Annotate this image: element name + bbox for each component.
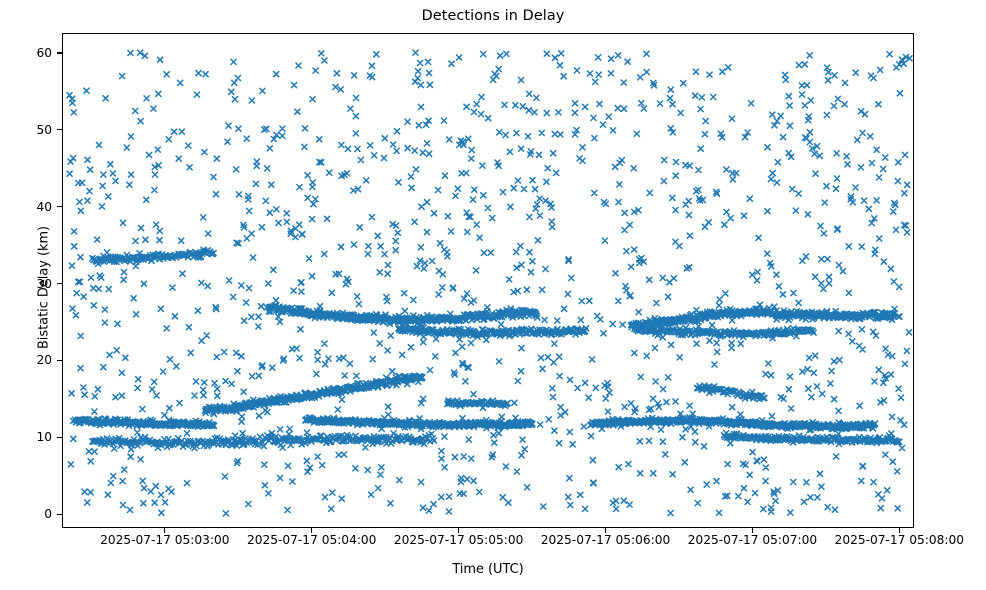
y-tick-mark: [57, 206, 62, 207]
y-tick-mark: [57, 129, 62, 130]
y-tick-label: 0: [0, 507, 52, 521]
x-tick-label: 2025-07-17 05:05:00: [394, 533, 523, 547]
y-tick-label: 50: [0, 123, 52, 137]
y-tick-mark: [57, 360, 62, 361]
plot-area: [62, 33, 914, 528]
y-tick-mark: [57, 437, 62, 438]
x-axis-label: Time (UTC): [62, 562, 914, 577]
x-tick-mark: [311, 528, 312, 533]
matplotlib-figure: Detections in Delay 01020304050602025-07…: [0, 0, 986, 590]
x-tick-label: 2025-07-17 05:03:00: [100, 533, 229, 547]
y-tick-mark: [57, 283, 62, 284]
x-tick-label: 2025-07-17 05:04:00: [247, 533, 376, 547]
y-axis-label: Bistatic Delay (km): [37, 188, 52, 388]
x-tick-mark: [605, 528, 606, 533]
x-tick-mark: [752, 528, 753, 533]
x-tick-mark: [458, 528, 459, 533]
y-tick-label: 10: [0, 430, 52, 444]
scatter-layer: [63, 34, 914, 528]
x-tick-label: 2025-07-17 05:06:00: [541, 533, 670, 547]
page-title: Detections in Delay: [0, 8, 986, 24]
y-tick-mark: [57, 52, 62, 53]
scatter-markers: [67, 50, 913, 517]
y-tick-label: 60: [0, 46, 52, 60]
x-tick-mark: [164, 528, 165, 533]
x-tick-label: 2025-07-17 05:08:00: [835, 533, 964, 547]
x-tick-label: 2025-07-17 05:07:00: [688, 533, 817, 547]
x-tick-mark: [899, 528, 900, 533]
y-tick-mark: [57, 514, 62, 515]
